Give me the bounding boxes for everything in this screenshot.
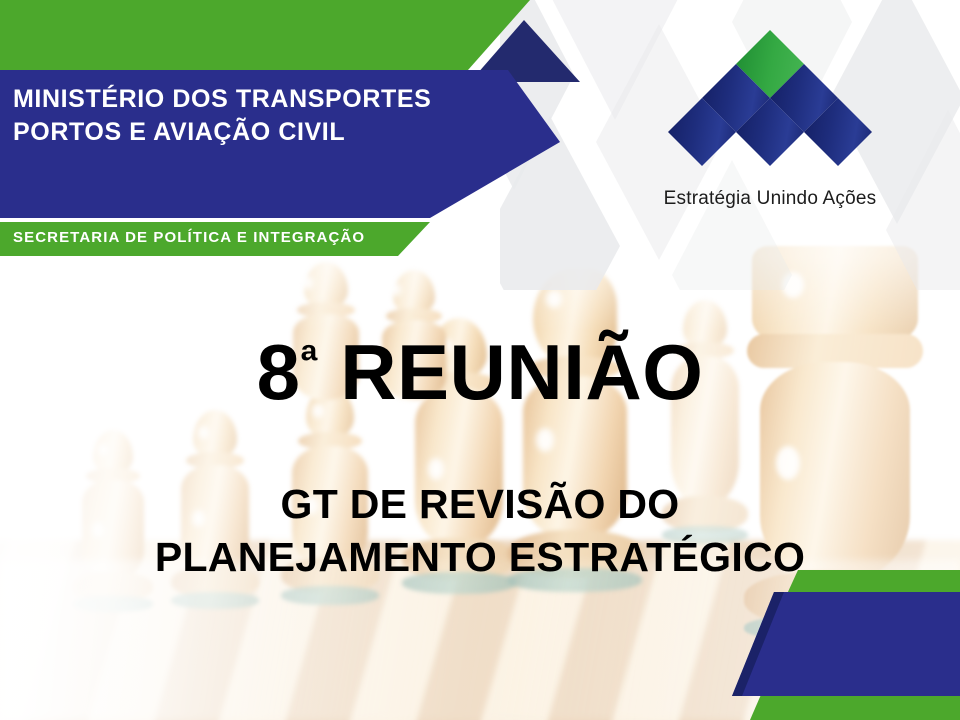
ordinal-indicator: ª <box>301 335 319 387</box>
corner-navy-bar <box>732 592 960 696</box>
ministry-line-2: PORTOS E AVIAÇÃO CIVIL <box>13 116 493 149</box>
ministry-title: MINISTÉRIO DOS TRANSPORTES PORTOS E AVIA… <box>13 83 493 148</box>
ministry-line-1: MINISTÉRIO DOS TRANSPORTES <box>13 83 493 116</box>
estrategia-logo: Estratégia Unindo Ações <box>645 28 895 228</box>
meeting-number: 8 <box>257 328 301 416</box>
subtitle-line-1: GT DE REVISÃO DO <box>0 478 960 531</box>
secretariat-label: SECRETARIA DE POLÍTICA E INTEGRAÇÃO <box>13 229 365 246</box>
meeting-word: REUNIÃO <box>340 328 703 416</box>
page-title: 8ª REUNIÃO <box>0 333 960 411</box>
title-slide: MINISTÉRIO DOS TRANSPORTES PORTOS E AVIA… <box>0 0 960 720</box>
logo-caption: Estratégia Unindo Ações <box>645 188 895 210</box>
corner-decoration <box>710 530 960 720</box>
